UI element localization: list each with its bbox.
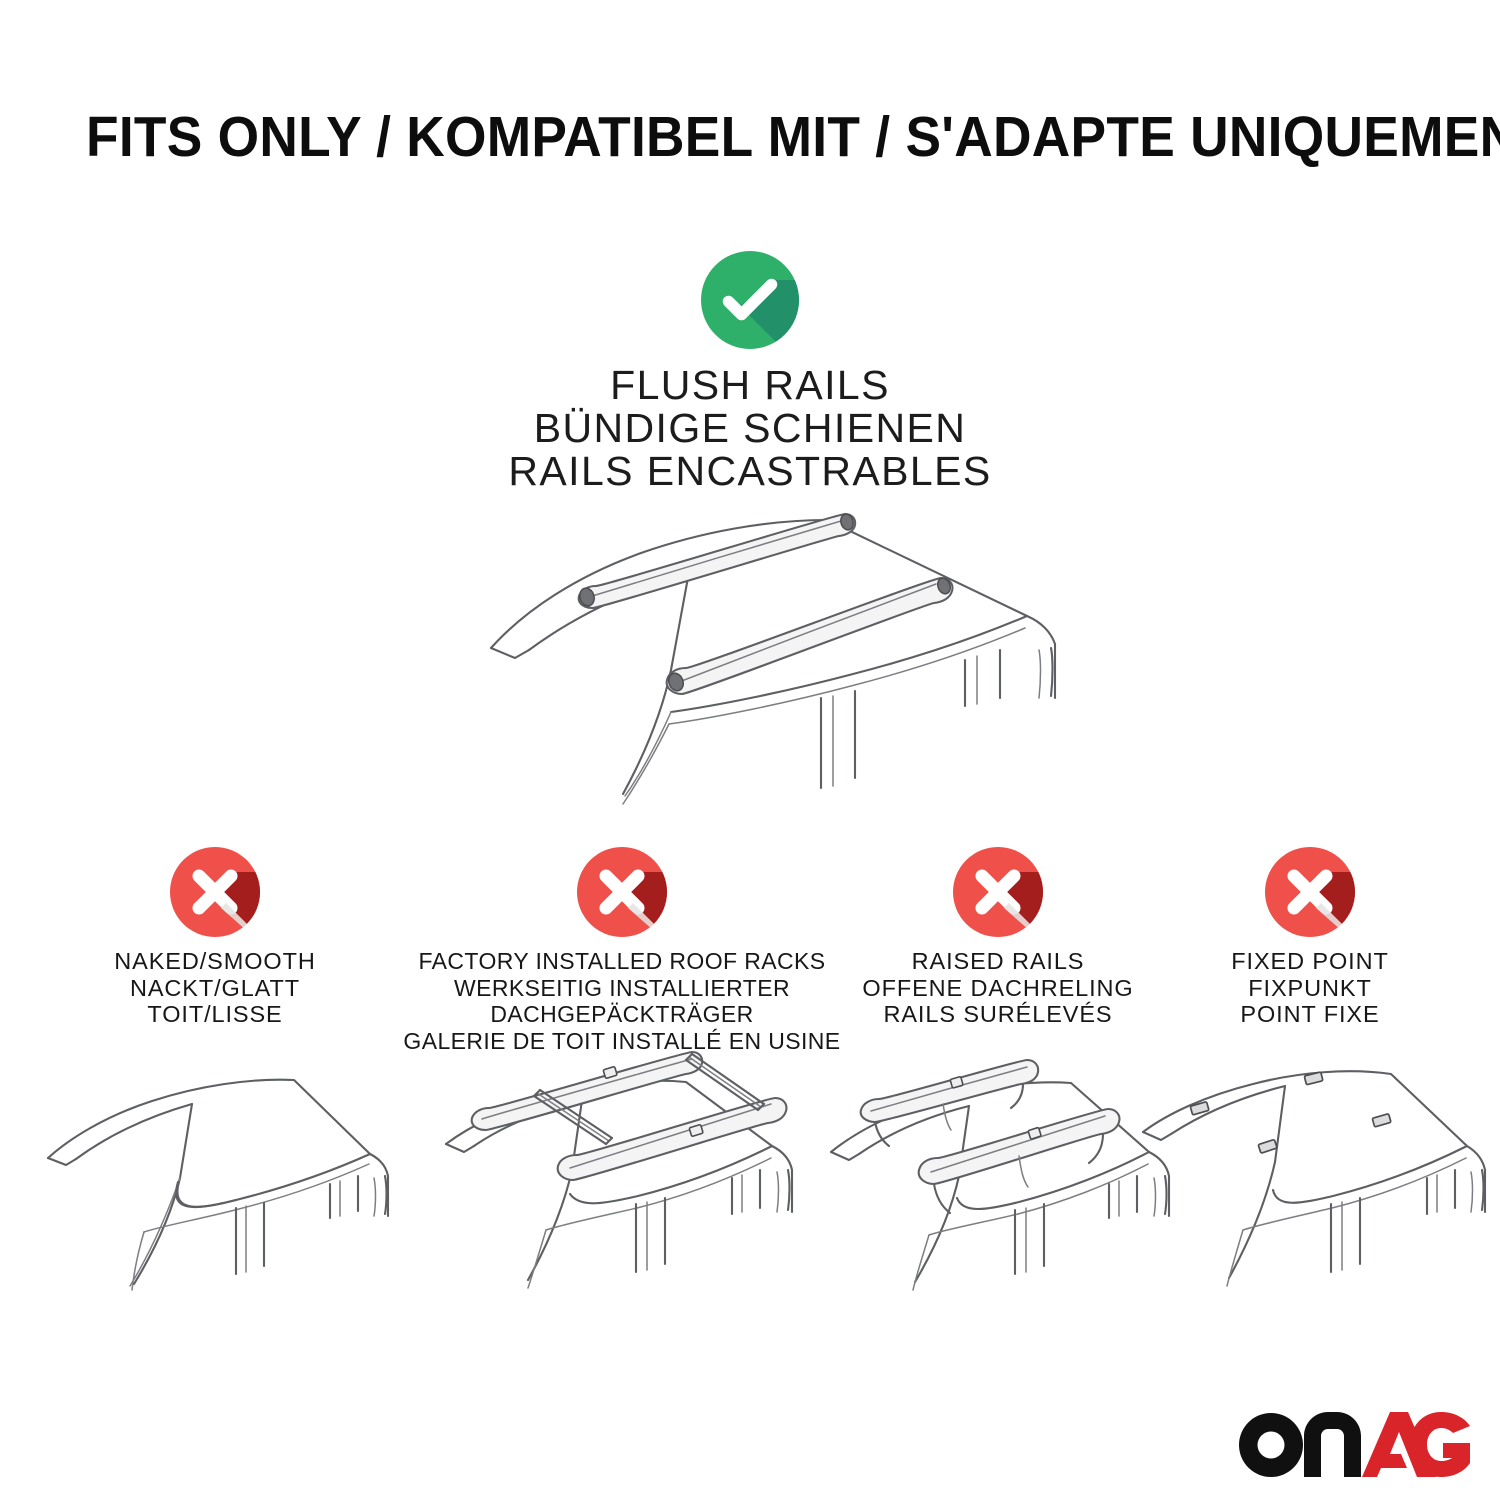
caption-line: POINT FIXE: [1160, 1001, 1460, 1028]
caption-line: DACHGEPÄCKTRÄGER: [396, 1001, 848, 1028]
caption-line: WERKSEITIG INSTALLIERTER: [396, 975, 848, 1002]
caption-line: RAILS ENCASTRABLES: [0, 450, 1500, 493]
caption-line: FACTORY INSTALLED ROOF RACKS: [396, 948, 848, 975]
car-roof-naked-smooth-illustration: [40, 1066, 390, 1301]
caption-line: RAISED RAILS: [830, 948, 1166, 975]
incompatible-option-fixed-point: FIXED POINT FIXPUNKT POINT FIXE: [1160, 838, 1460, 1028]
option-caption: NAKED/SMOOTH NACKT/GLATT TOIT/LISSE: [30, 948, 400, 1028]
page-title: FITS ONLY / KOMPATIBEL MIT / S'ADAPTE UN…: [86, 108, 1500, 168]
car-roof-factory-installed-rack-illustration: [436, 1066, 808, 1301]
check-circle-icon: [700, 250, 800, 350]
cross-circle-icon: [169, 846, 261, 938]
caption-line: GALERIE DE TOIT INSTALLÉ EN USINE: [396, 1028, 848, 1055]
omac-logo: [1238, 1412, 1470, 1478]
caption-line: NAKED/SMOOTH: [30, 948, 400, 975]
incompatible-option-naked-smooth: NAKED/SMOOTH NACKT/GLATT TOIT/LISSE: [30, 838, 400, 1028]
cross-circle-icon: [952, 846, 1044, 938]
compatible-option-caption: FLUSH RAILS BÜNDIGE SCHIENEN RAILS ENCAS…: [0, 364, 1500, 493]
incompatible-option-raised-rails: RAISED RAILS OFFENE DACHRELING RAILS SUR…: [830, 838, 1166, 1028]
incompatible-options-row: NAKED/SMOOTH NACKT/GLATT TOIT/LISSE: [0, 838, 1500, 1308]
fitment-infographic: FITS ONLY / KOMPATIBEL MIT / S'ADAPTE UN…: [0, 0, 1500, 1500]
caption-line: FLUSH RAILS: [0, 364, 1500, 407]
option-caption: FACTORY INSTALLED ROOF RACKS WERKSEITIG …: [396, 948, 848, 1054]
compatible-option: FLUSH RAILS BÜNDIGE SCHIENEN RAILS ENCAS…: [0, 250, 1500, 493]
caption-line: FIXPUNKT: [1160, 975, 1460, 1002]
option-caption: FIXED POINT FIXPUNKT POINT FIXE: [1160, 948, 1460, 1028]
option-caption: RAISED RAILS OFFENE DACHRELING RAILS SUR…: [830, 948, 1166, 1028]
caption-line: RAILS SURÉLEVÉS: [830, 1001, 1166, 1028]
car-roof-with-flush-rails-illustration: [455, 498, 1065, 808]
car-roof-raised-rails-illustration: [823, 1066, 1173, 1301]
car-roof-fixed-point-illustration: [1135, 1066, 1485, 1301]
caption-line: BÜNDIGE SCHIENEN: [0, 407, 1500, 450]
cross-circle-icon: [576, 846, 668, 938]
caption-line: FIXED POINT: [1160, 948, 1460, 975]
incompatible-option-factory-roof-racks: FACTORY INSTALLED ROOF RACKS WERKSEITIG …: [396, 838, 848, 1054]
caption-line: OFFENE DACHRELING: [830, 975, 1166, 1002]
cross-circle-icon: [1264, 846, 1356, 938]
caption-line: NACKT/GLATT: [30, 975, 400, 1002]
caption-line: TOIT/LISSE: [30, 1001, 400, 1028]
